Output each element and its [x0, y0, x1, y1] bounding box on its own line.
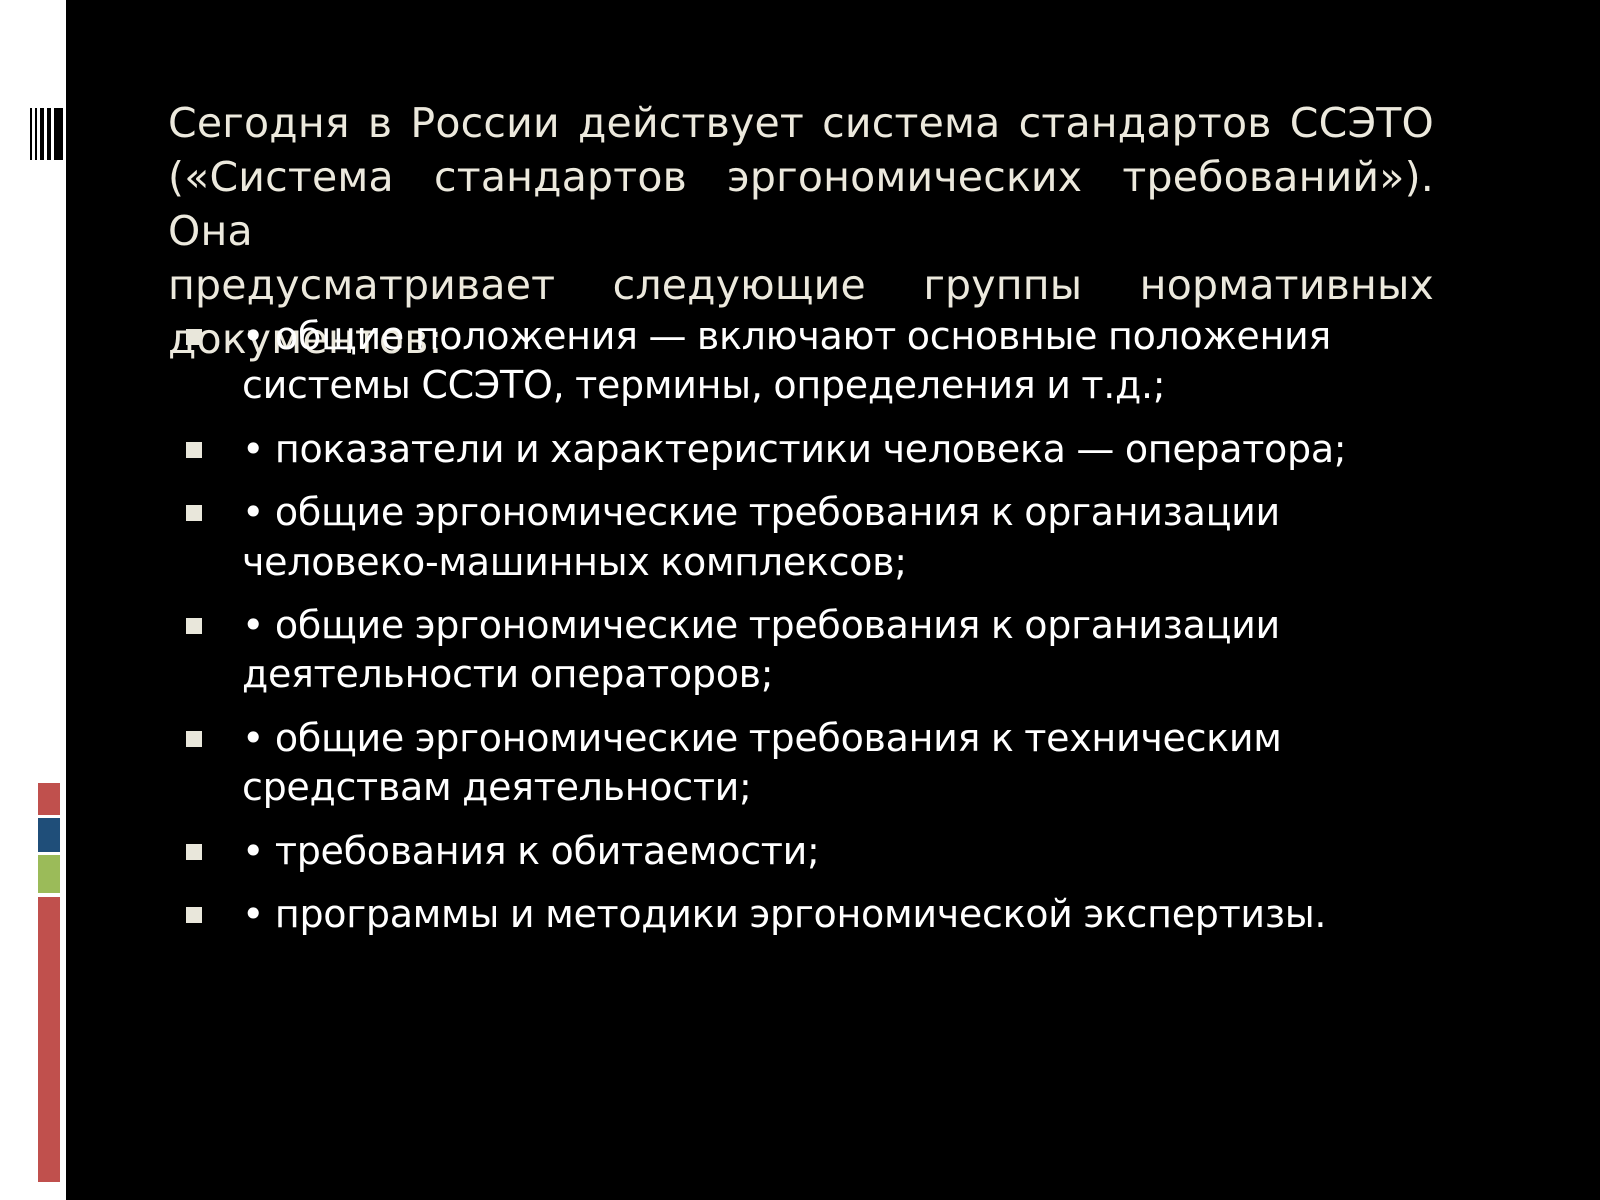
- square-bullet-icon: [186, 329, 202, 345]
- list-item-text: • общие эргономические требования к техн…: [242, 714, 1456, 813]
- bullet-list: • общие положения — включают основные по…: [186, 312, 1456, 953]
- list-item: • показатели и характеристики человека —…: [186, 425, 1456, 474]
- list-item-text: • требования к обитаемости;: [242, 827, 1456, 876]
- title-line-1: Сегодня в России действует система станд…: [168, 96, 1434, 150]
- list-item-text: • показатели и характеристики человека —…: [242, 425, 1456, 474]
- list-item: • общие эргономические требования к орга…: [186, 488, 1456, 587]
- list-item-text: • программы и методики эргономической эк…: [242, 890, 1456, 939]
- square-bullet-icon: [186, 442, 202, 458]
- list-item-text: • общие эргономические требования к орга…: [242, 601, 1456, 700]
- accent-bar-red-small: [38, 783, 60, 815]
- list-item: • общие эргономические требования к техн…: [186, 714, 1456, 813]
- list-item: • общие эргономические требования к орга…: [186, 601, 1456, 700]
- square-bullet-icon: [186, 844, 202, 860]
- presentation-slide: Сегодня в России действует система станд…: [0, 0, 1600, 1200]
- square-bullet-icon: [186, 731, 202, 747]
- accent-bar-blue: [38, 818, 60, 852]
- square-bullet-icon: [186, 505, 202, 521]
- title-line-2: («Система стандартов эргономических треб…: [168, 150, 1434, 258]
- barcode-decoration-icon: [30, 108, 66, 160]
- list-item-text: • общие эргономические требования к орга…: [242, 488, 1456, 587]
- list-item: • общие положения — включают основные по…: [186, 312, 1456, 411]
- square-bullet-icon: [186, 618, 202, 634]
- list-item-text: • общие положения — включают основные по…: [242, 312, 1456, 411]
- list-item: • программы и методики эргономической эк…: [186, 890, 1456, 939]
- accent-bar-green: [38, 855, 60, 893]
- square-bullet-icon: [186, 907, 202, 923]
- list-item: • требования к обитаемости;: [186, 827, 1456, 876]
- accent-bar-red-long: [38, 897, 60, 1182]
